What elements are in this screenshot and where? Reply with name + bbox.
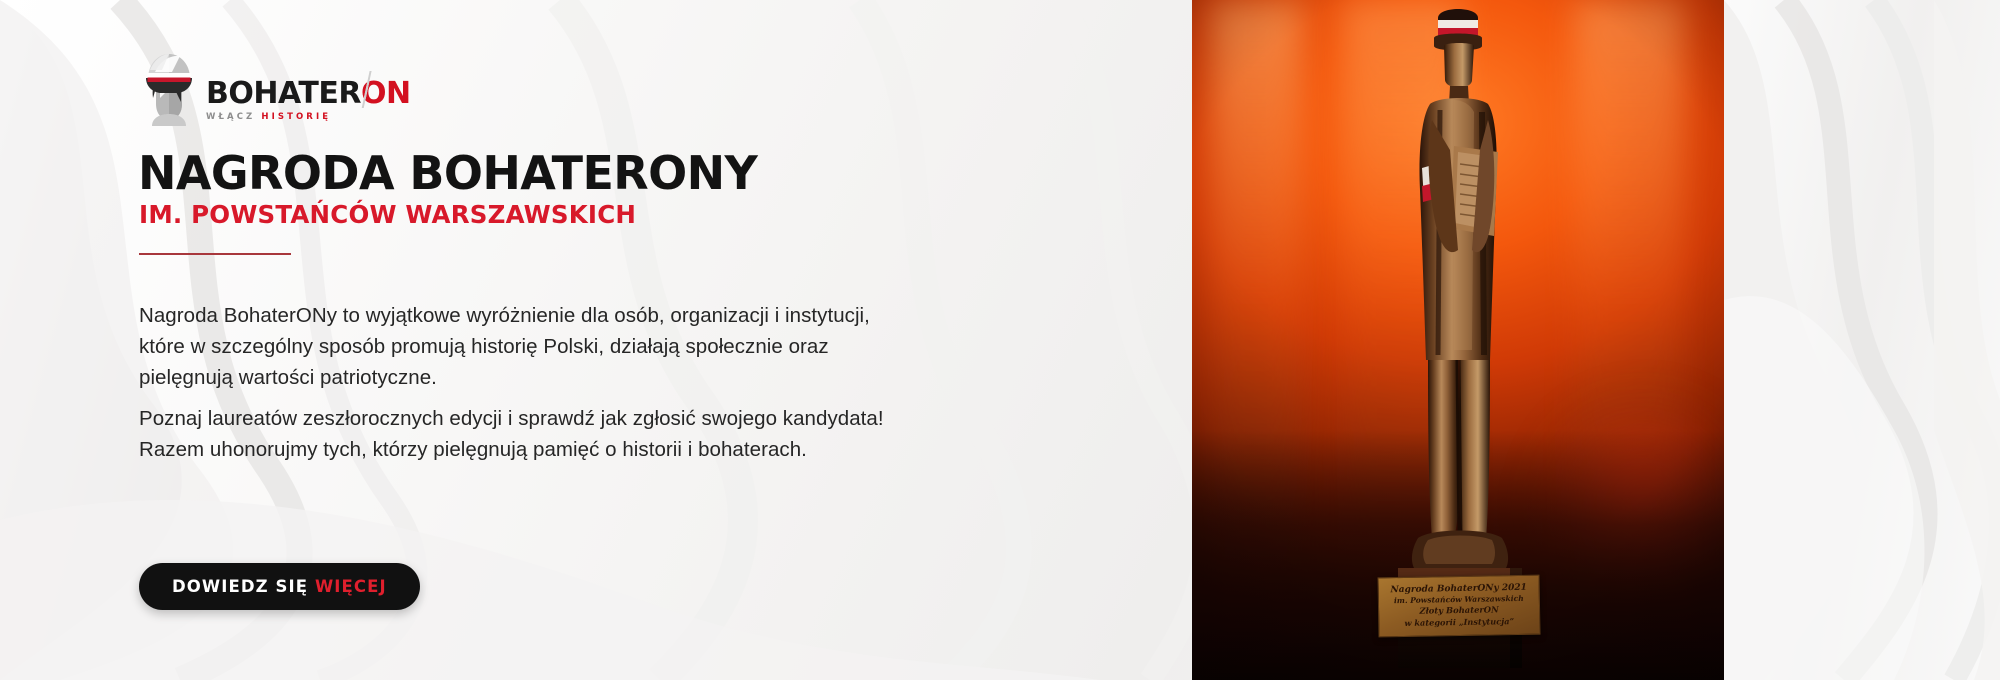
paragraph-line: które w szczególny sposób promują histor… [139, 331, 939, 362]
logo-word: BOHATERON [206, 79, 411, 109]
right-waves-icon [1724, 0, 2000, 680]
polish-flag-icon [367, 75, 383, 82]
award-statue-photo: Nagroda BohaterONy 2021 im. Powstańców W… [1192, 0, 1724, 680]
cta-label-main: DOWIEDZ SIĘ [172, 577, 315, 596]
logo-tagline-main: WŁĄCZ [206, 112, 261, 122]
paragraph-line: Poznaj laureatów zeszłorocznych edycji i… [139, 403, 939, 434]
paragraph-line: Razem uhonorujmy tych, którzy pielęgnują… [139, 434, 939, 465]
right-decorative-panel [1724, 0, 2000, 680]
promo-banner: BOHATERON WŁĄCZ HISTORIĘ NAGRODA BOHATER… [0, 0, 2000, 680]
intro-paragraph: Nagroda BohaterONy to wyjątkowe wyróżnie… [139, 300, 939, 393]
cta-label-accent: WIĘCEJ [315, 577, 387, 596]
content-column: BOHATERON WŁĄCZ HISTORIĘ NAGRODA BOHATER… [138, 0, 1058, 680]
page-subtitle: IM. POWSTAŃCÓW WARSZAWSKICH [139, 200, 636, 229]
award-plaque: Nagroda BohaterONy 2021 im. Powstańców W… [1377, 575, 1540, 638]
logo-tagline-accent: HISTORIĘ [261, 112, 331, 122]
soldier-helmet-icon [138, 48, 200, 126]
paragraph-line: Nagroda BohaterONy to wyjątkowe wyróżnie… [139, 300, 939, 331]
logo-tagline: WŁĄCZ HISTORIĘ [206, 112, 411, 122]
learn-more-button-label: DOWIEDZ SIĘ WIĘCEJ [172, 577, 387, 596]
bohateron-logo[interactable]: BOHATERON WŁĄCZ HISTORIĘ [138, 48, 411, 126]
secondary-paragraph: Poznaj laureatów zeszłorocznych edycji i… [139, 403, 939, 465]
page-title: NAGRODA BOHATERONY [138, 146, 757, 200]
paragraph-line: pielęgnują wartości patriotyczne. [139, 362, 939, 393]
title-divider [139, 253, 291, 255]
plaque-line-4: w kategorii „Instytucja” [1383, 616, 1535, 630]
logo-word-main: BOHATER [206, 76, 361, 111]
logo-wordmark: BOHATERON WŁĄCZ HISTORIĘ [206, 79, 411, 122]
learn-more-button[interactable]: DOWIEDZ SIĘ WIĘCEJ [139, 563, 420, 610]
